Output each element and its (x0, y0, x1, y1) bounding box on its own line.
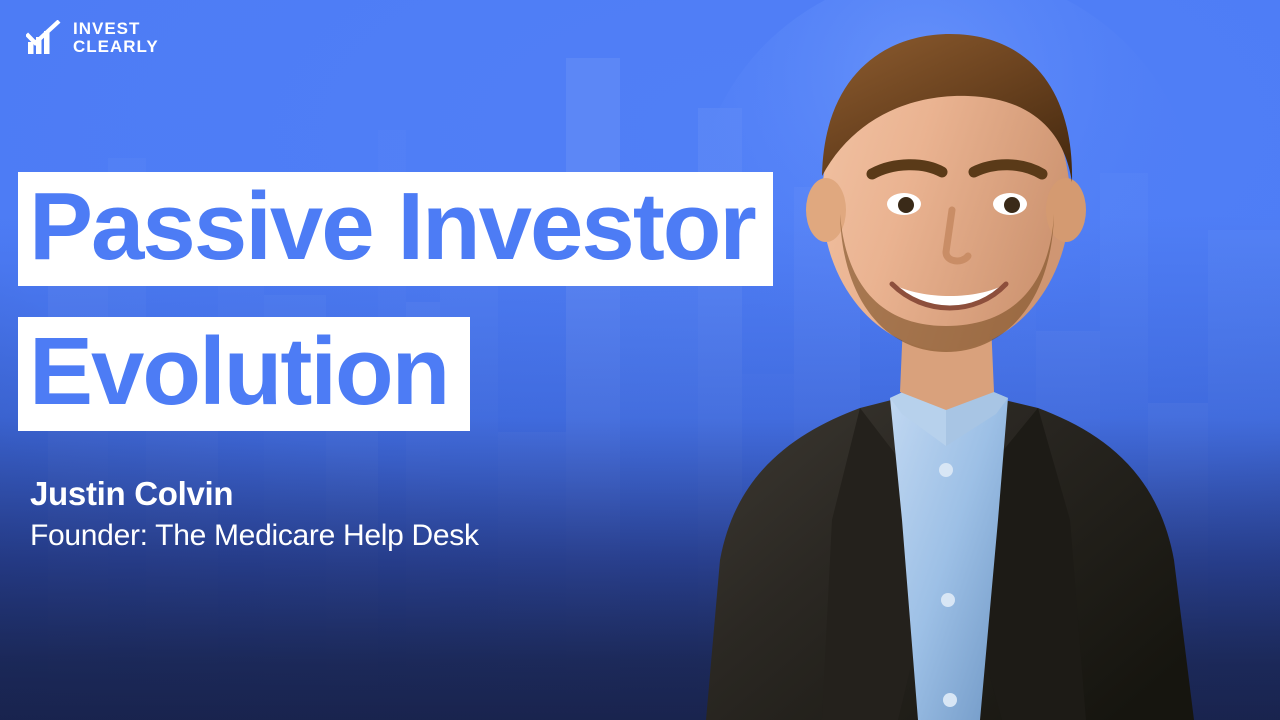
video-thumbnail: INVEST CLEARLY Passive Investor Evolutio… (0, 0, 1280, 720)
headline-line-1: Passive Investor (18, 172, 773, 286)
speaker-title: Founder: The Medicare Help Desk (30, 516, 479, 556)
speaker-name: Justin Colvin (30, 474, 479, 514)
headline-highlight-box-2: Evolution (18, 317, 470, 431)
chart-check-icon (26, 20, 62, 56)
presenter-portrait (646, 0, 1280, 720)
headline-line-2: Evolution (18, 317, 470, 431)
speaker-block: Justin Colvin Founder: The Medicare Help… (30, 474, 479, 556)
headline-highlight-box-1: Passive Investor (18, 172, 773, 286)
brand-logo[interactable]: INVEST CLEARLY (26, 20, 159, 56)
brand-name: INVEST CLEARLY (73, 20, 159, 56)
headline-text-1: Passive Investor (29, 178, 755, 276)
headline-text-2: Evolution (29, 323, 448, 421)
